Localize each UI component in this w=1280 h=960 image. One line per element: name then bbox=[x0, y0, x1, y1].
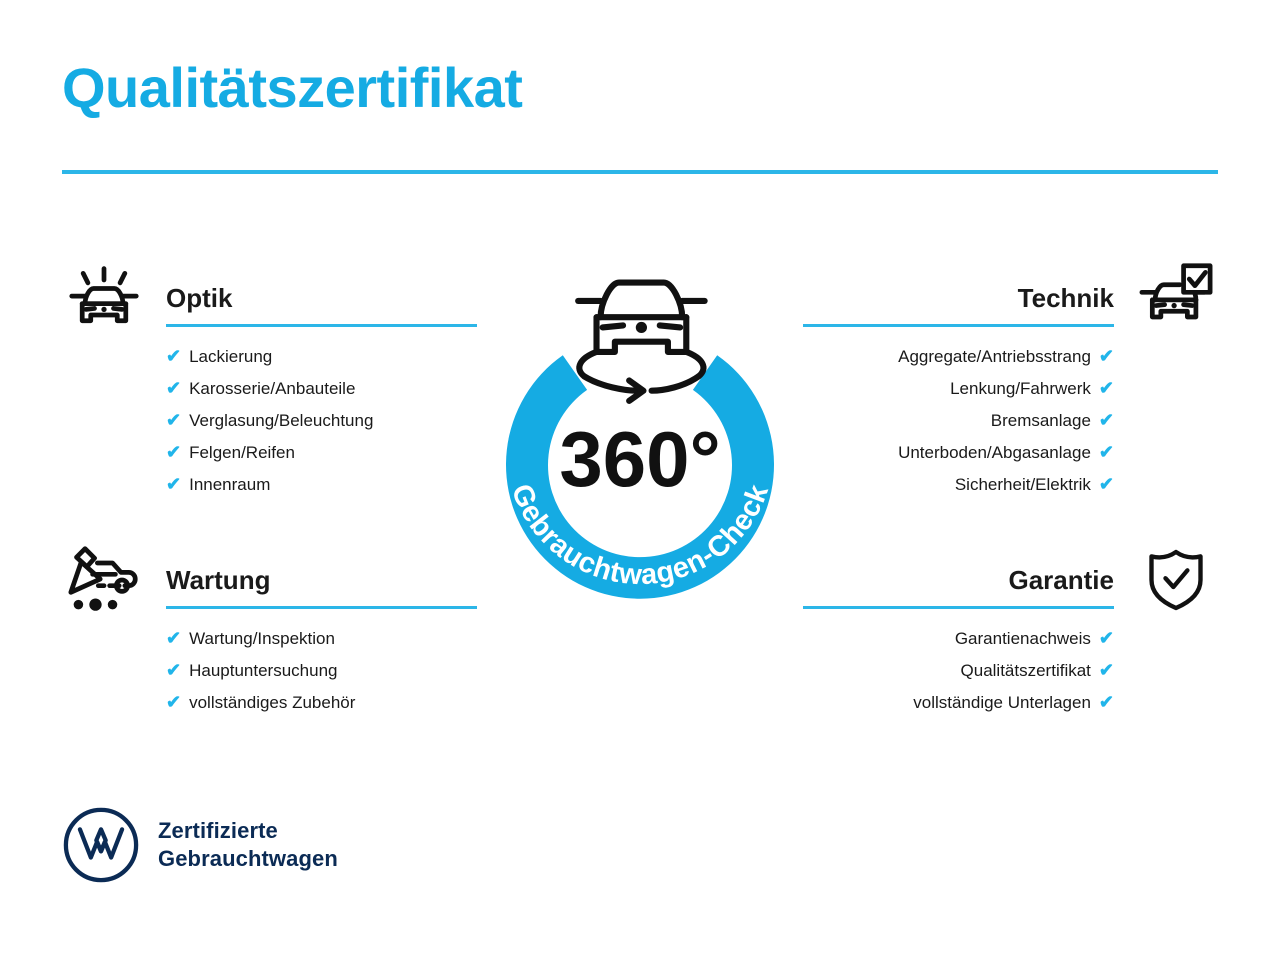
list-item: Unterboden/Abgasanlage✔ bbox=[798, 436, 1114, 468]
list-item-label: Lenkung/Fahrwerk bbox=[950, 380, 1091, 397]
section-technik-title: Technik bbox=[1018, 283, 1114, 314]
section-optik-title: Optik bbox=[166, 283, 232, 314]
title-divider bbox=[62, 170, 1218, 174]
list-item: ✔Wartung/Inspektion bbox=[166, 622, 482, 654]
shield-check-icon bbox=[1134, 540, 1218, 620]
check-icon: ✔ bbox=[166, 379, 181, 397]
page-title: Qualitätszertifikat bbox=[62, 56, 522, 120]
check-icon: ✔ bbox=[1099, 629, 1114, 647]
section-garantie-header: Garantie bbox=[798, 532, 1218, 622]
list-item-label: vollständige Unterlagen bbox=[913, 694, 1091, 711]
list-item-label: Qualitätszertifikat bbox=[961, 662, 1091, 679]
car-front-lights-icon bbox=[62, 258, 146, 338]
list-item: ✔Verglasung/Beleuchtung bbox=[166, 404, 482, 436]
section-optik-header: Optik bbox=[62, 250, 482, 340]
check-icon: ✔ bbox=[1099, 411, 1114, 429]
footer-line-2: Gebrauchtwagen bbox=[158, 845, 338, 873]
badge-360-gebrauchtwagen-check: 360° Gebrauchtwagen-Check bbox=[466, 246, 814, 626]
section-garantie-title: Garantie bbox=[1009, 565, 1115, 596]
section-garantie: Garantie Garantienachweis✔ Qualitätszert… bbox=[798, 532, 1218, 718]
right-column: Technik Aggregate/Antriebsstrang✔ Lenkun… bbox=[798, 250, 1218, 718]
section-technik-list: Aggregate/Antriebsstrang✔ Lenkung/Fahrwe… bbox=[798, 340, 1114, 500]
list-item-label: Aggregate/Antriebsstrang bbox=[898, 348, 1091, 365]
section-technik-divider bbox=[803, 324, 1114, 327]
quality-certificate-page: Qualitätszertifikat bbox=[0, 0, 1280, 960]
car-rotate-360-icon bbox=[578, 283, 704, 401]
list-item-label: Bremsanlage bbox=[991, 412, 1091, 429]
section-wartung-list: ✔Wartung/Inspektion ✔Hauptuntersuchung ✔… bbox=[166, 622, 482, 718]
list-item: Bremsanlage✔ bbox=[798, 404, 1114, 436]
left-column: Optik ✔Lackierung ✔Karosserie/Anbauteile… bbox=[62, 250, 482, 718]
list-item-label: vollständiges Zubehör bbox=[189, 694, 355, 711]
list-item: Garantienachweis✔ bbox=[798, 622, 1114, 654]
section-garantie-list: Garantienachweis✔ Qualitätszertifikat✔ v… bbox=[798, 622, 1114, 718]
list-item-label: Karosserie/Anbauteile bbox=[189, 380, 355, 397]
list-item: ✔Felgen/Reifen bbox=[166, 436, 482, 468]
list-item-label: Sicherheit/Elektrik bbox=[955, 476, 1091, 493]
list-item: Aggregate/Antriebsstrang✔ bbox=[798, 340, 1114, 372]
list-item-label: Hauptuntersuchung bbox=[189, 662, 337, 679]
check-icon: ✔ bbox=[166, 443, 181, 461]
check-icon: ✔ bbox=[1099, 661, 1114, 679]
check-icon: ✔ bbox=[1099, 379, 1114, 397]
section-wartung-header: Wartung bbox=[62, 532, 482, 622]
check-icon: ✔ bbox=[166, 475, 181, 493]
section-optik-divider bbox=[166, 324, 477, 327]
footer-line-1: Zertifizierte bbox=[158, 817, 338, 845]
footer-text: Zertifizierte Gebrauchtwagen bbox=[158, 817, 338, 873]
list-item-label: Wartung/Inspektion bbox=[189, 630, 335, 647]
car-checkbox-icon bbox=[1134, 258, 1218, 338]
section-wartung: Wartung ✔Wartung/Inspektion ✔Hauptunters… bbox=[62, 532, 482, 718]
section-technik-header: Technik bbox=[798, 250, 1218, 340]
badge-center-value: 360° bbox=[559, 415, 720, 503]
check-icon: ✔ bbox=[166, 629, 181, 647]
check-icon: ✔ bbox=[1099, 475, 1114, 493]
check-icon: ✔ bbox=[166, 411, 181, 429]
section-optik: Optik ✔Lackierung ✔Karosserie/Anbauteile… bbox=[62, 250, 482, 500]
list-item: ✔Lackierung bbox=[166, 340, 482, 372]
check-icon: ✔ bbox=[166, 661, 181, 679]
list-item: Lenkung/Fahrwerk✔ bbox=[798, 372, 1114, 404]
check-icon: ✔ bbox=[166, 347, 181, 365]
check-icon: ✔ bbox=[1099, 693, 1114, 711]
check-icon: ✔ bbox=[1099, 443, 1114, 461]
list-item: Sicherheit/Elektrik✔ bbox=[798, 468, 1114, 500]
list-item-label: Unterboden/Abgasanlage bbox=[898, 444, 1091, 461]
list-item: vollständige Unterlagen✔ bbox=[798, 686, 1114, 718]
list-item: ✔Hauptuntersuchung bbox=[166, 654, 482, 686]
list-item: ✔Innenraum bbox=[166, 468, 482, 500]
vw-logo bbox=[62, 806, 140, 884]
list-item: ✔Karosserie/Anbauteile bbox=[166, 372, 482, 404]
section-wartung-title: Wartung bbox=[166, 565, 270, 596]
list-item-label: Lackierung bbox=[189, 348, 272, 365]
list-item-label: Verglasung/Beleuchtung bbox=[189, 412, 373, 429]
section-optik-list: ✔Lackierung ✔Karosserie/Anbauteile ✔Verg… bbox=[166, 340, 482, 500]
car-on-ramp-icon bbox=[62, 540, 146, 620]
list-item-label: Garantienachweis bbox=[955, 630, 1091, 647]
check-icon: ✔ bbox=[166, 693, 181, 711]
list-item-label: Innenraum bbox=[189, 476, 270, 493]
section-garantie-divider bbox=[803, 606, 1114, 609]
footer-branding: Zertifizierte Gebrauchtwagen bbox=[62, 806, 338, 884]
section-technik: Technik Aggregate/Antriebsstrang✔ Lenkun… bbox=[798, 250, 1218, 500]
list-item: ✔vollständiges Zubehör bbox=[166, 686, 482, 718]
list-item: Qualitätszertifikat✔ bbox=[798, 654, 1114, 686]
section-wartung-divider bbox=[166, 606, 477, 609]
list-item-label: Felgen/Reifen bbox=[189, 444, 295, 461]
check-icon: ✔ bbox=[1099, 347, 1114, 365]
